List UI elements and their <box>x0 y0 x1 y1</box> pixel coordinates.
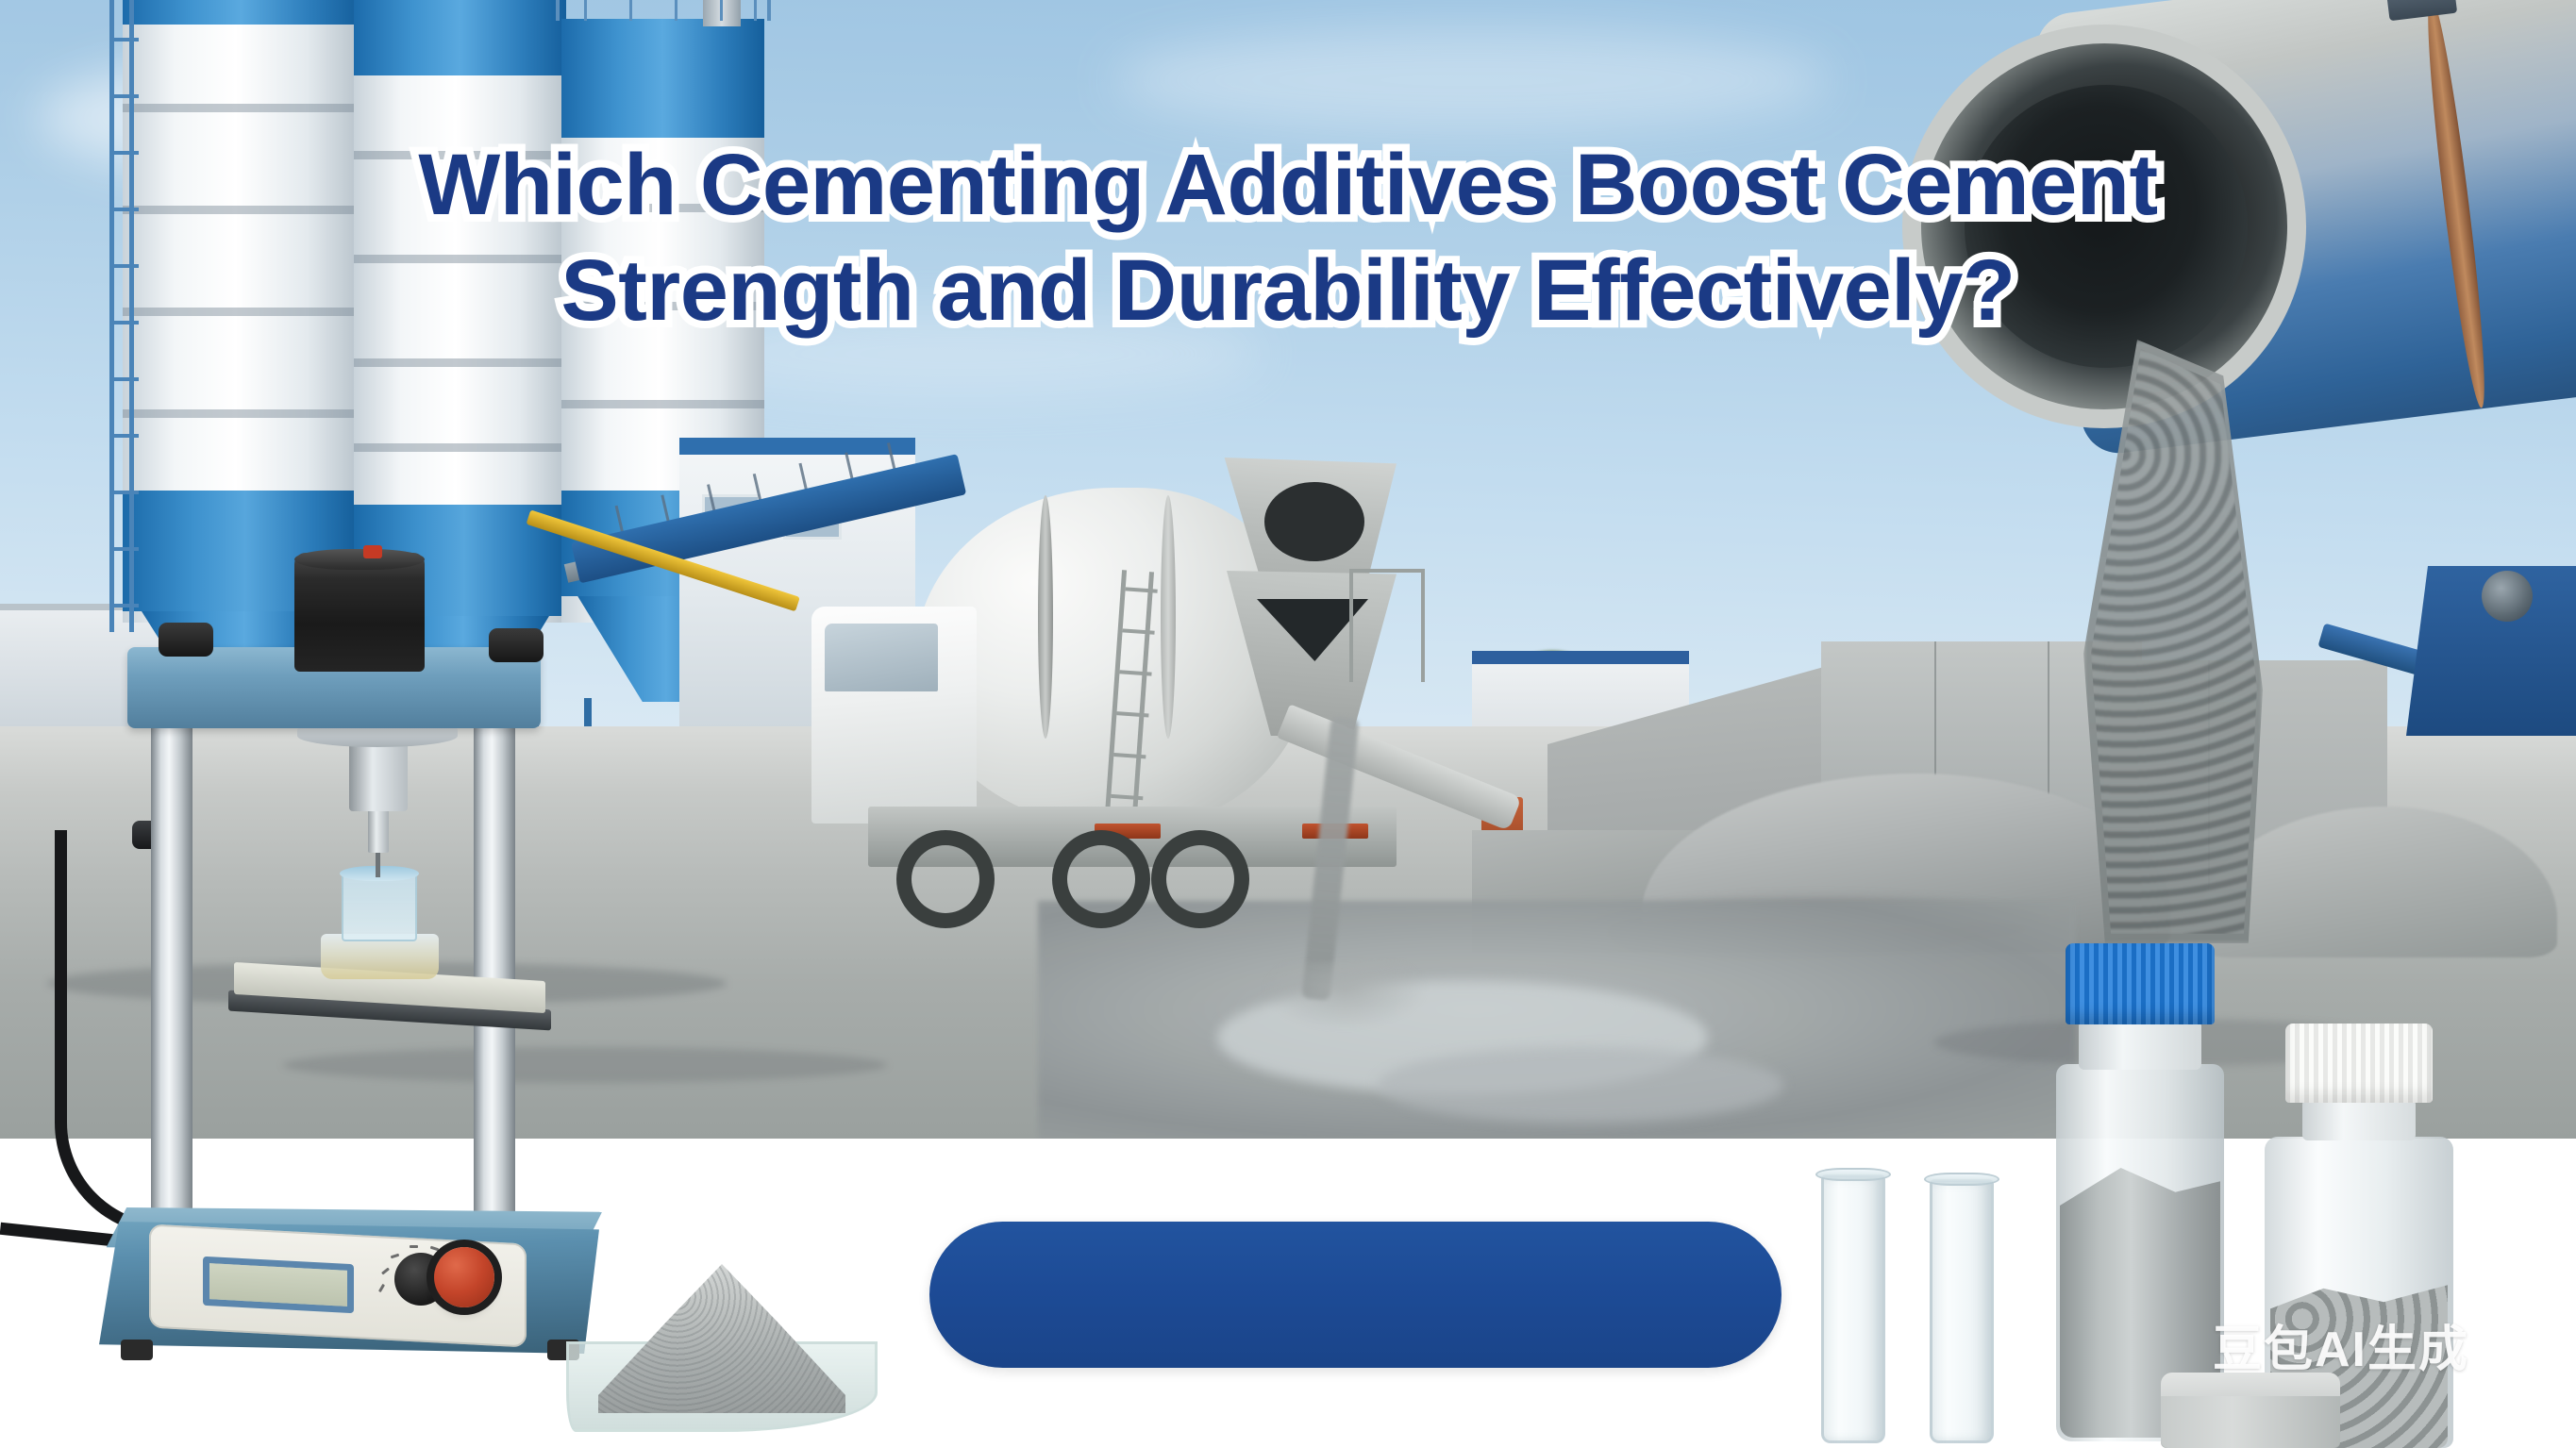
truck-wheel <box>1052 830 1150 928</box>
poster-title: Which Cementing Additives Boost Cement S… <box>0 132 2576 343</box>
puddle <box>1378 1047 1783 1123</box>
truck-wheel <box>1151 830 1249 928</box>
bottle-cap <box>2285 1024 2433 1103</box>
cloud <box>1113 28 1831 132</box>
emergency-stop-button[interactable] <box>434 1247 494 1307</box>
truck-wheel <box>896 830 995 928</box>
poster-canvas: Which Cementing Additives Boost Cement S… <box>0 0 2576 1448</box>
concrete-mixer-truck <box>811 429 1491 976</box>
truck-platform <box>1349 569 1425 682</box>
compression-testing-machine <box>38 462 623 1448</box>
machine-motor <box>294 553 425 672</box>
mixer-bolt <box>2482 571 2533 622</box>
bottle-cap <box>2066 943 2215 1024</box>
title-line-1: Which Cementing Additives Boost Cement <box>0 132 2576 238</box>
bottle-neck <box>2079 1021 2201 1070</box>
bottle-blue-cap <box>2052 943 2227 1443</box>
machine-foot <box>121 1340 153 1360</box>
vial-beige-powder <box>1930 1179 1994 1443</box>
cement-powder-dish <box>566 1236 878 1434</box>
lcd-display <box>203 1257 354 1313</box>
beam-cap <box>489 628 544 662</box>
cab-window <box>825 624 938 691</box>
bottle-neck <box>2302 1099 2416 1140</box>
motor-top <box>294 549 425 570</box>
probe-needle <box>376 849 380 877</box>
machine-pillar <box>474 689 515 1236</box>
test-specimen <box>342 874 417 941</box>
vial-lip <box>1815 1168 1891 1181</box>
status-led <box>363 545 382 558</box>
ram-tip <box>368 807 389 853</box>
title-line-2: Strength and Durability Effectively? <box>0 238 2576 343</box>
hydraulic-ram <box>349 736 408 811</box>
large-concrete-mixer <box>1878 0 2576 811</box>
machine-pillar <box>151 689 192 1236</box>
cement-powder-heap <box>598 1264 845 1413</box>
banner-pill[interactable] <box>929 1222 1781 1368</box>
ai-watermark: 豆包AI生成 <box>2213 1309 2469 1380</box>
beam-cap <box>159 623 213 657</box>
vial-dark-granules <box>1821 1174 1885 1443</box>
truck-cab <box>811 607 977 824</box>
cement-cube-face <box>2161 1396 2340 1448</box>
lcd-screen <box>209 1263 347 1307</box>
vial-lip <box>1924 1173 1999 1186</box>
concrete-splash <box>1264 962 1425 1028</box>
